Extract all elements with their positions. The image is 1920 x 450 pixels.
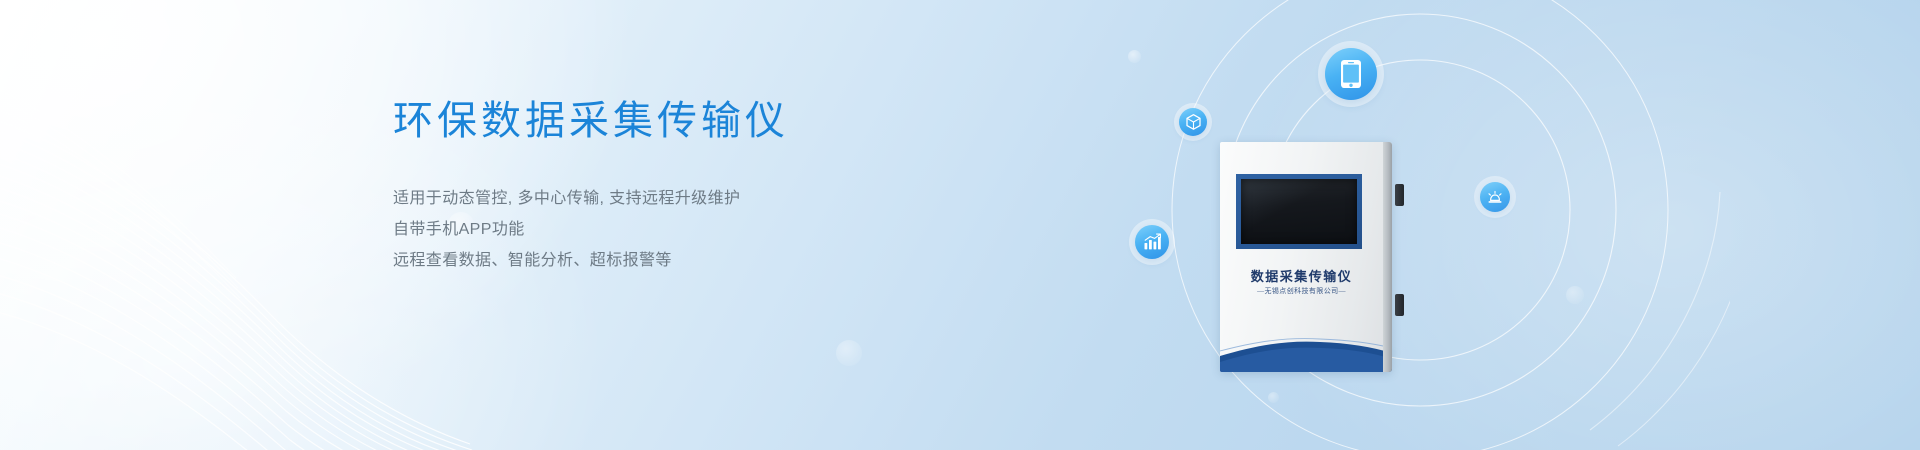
product-device-image: 数据采集传输仪 —无锡点创科技有限公司— [1220, 142, 1398, 372]
bokeh-dot [1268, 392, 1279, 403]
page-title: 环保数据采集传输仪 [393, 96, 913, 147]
device-screen [1241, 179, 1357, 244]
device-model-label: 数据采集传输仪 [1220, 266, 1383, 285]
mobile-phone-icon[interactable] [1325, 48, 1377, 100]
bokeh-dot [1566, 286, 1584, 304]
banner-subtitle-list: 适用于动态管控, 多中心传输, 支持远程升级维护 自带手机APP功能 远程查看数… [393, 183, 913, 276]
product-hero-banner: 环保数据采集传输仪 适用于动态管控, 多中心传输, 支持远程升级维护 自带手机A… [0, 0, 1920, 450]
cube-box-icon[interactable] [1179, 108, 1207, 136]
banner-copy: 环保数据采集传输仪 适用于动态管控, 多中心传输, 支持远程升级维护 自带手机A… [393, 96, 913, 276]
device-company-label: —无锡点创科技有限公司— [1220, 286, 1383, 296]
bokeh-dot [836, 340, 862, 366]
device-hinge [1395, 294, 1404, 316]
device-hinge [1395, 184, 1404, 206]
device-screen-bezel [1236, 174, 1362, 249]
banner-subtitle-line-1: 适用于动态管控, 多中心传输, 支持远程升级维护 [393, 183, 913, 214]
bar-chart-icon[interactable] [1135, 225, 1169, 259]
device-right-edge [1383, 142, 1392, 372]
bokeh-dot [1128, 50, 1141, 63]
device-enclosure: 数据采集传输仪 —无锡点创科技有限公司— [1220, 142, 1392, 372]
banner-subtitle-line-3: 远程查看数据、智能分析、超标报警等 [393, 245, 913, 276]
banner-subtitle-line-2: 自带手机APP功能 [393, 214, 913, 245]
alarm-siren-icon[interactable] [1480, 182, 1510, 212]
device-base-graphic [1220, 326, 1392, 372]
